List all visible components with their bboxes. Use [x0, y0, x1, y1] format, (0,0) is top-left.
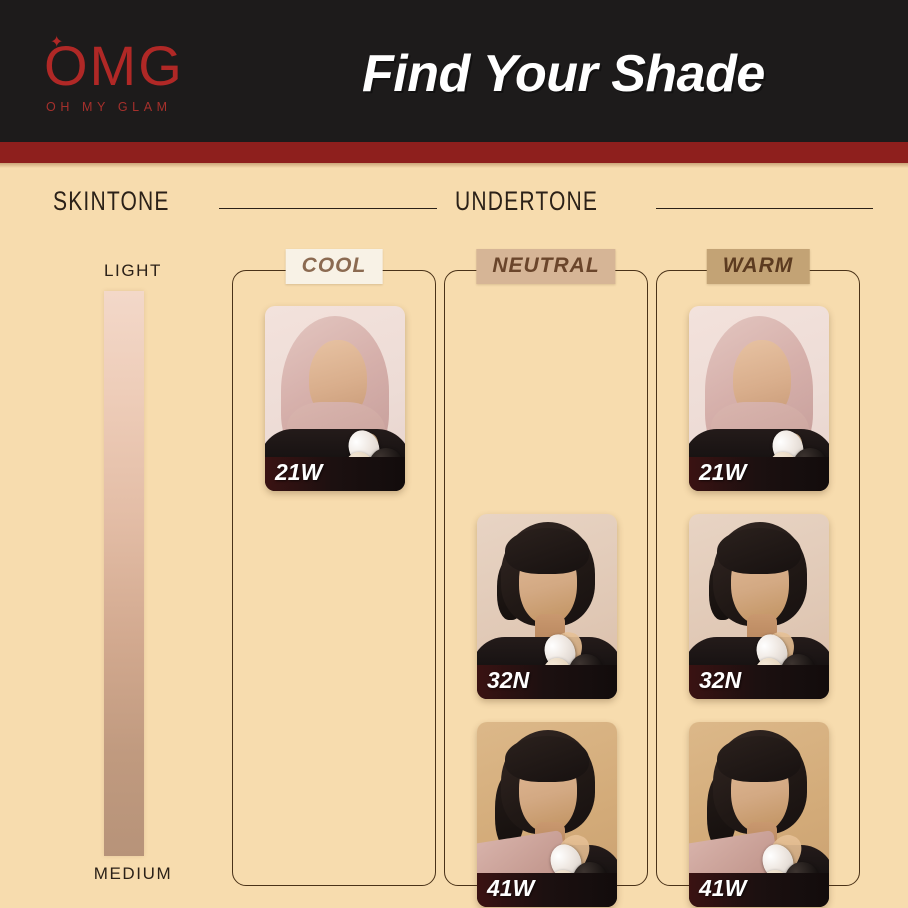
skintone-gradient-bar	[104, 291, 144, 856]
model-hairline	[505, 528, 589, 574]
logo-tagline: OH MY GLAM	[46, 100, 172, 114]
logo-wordmark: OMG	[44, 38, 184, 94]
page-title: Find Your Shade	[362, 44, 765, 104]
undertone-badge-cool: COOL	[286, 249, 383, 284]
shade-name: 41W	[699, 875, 746, 902]
shade-name: 32N	[487, 667, 529, 694]
find-your-shade-poster: ✦ OMG OH MY GLAM Find Your Shade SKINTON…	[0, 0, 908, 908]
header-bar: ✦ OMG OH MY GLAM Find Your Shade	[0, 0, 908, 142]
undertone-column-warm[interactable]: WARM 21W	[656, 270, 860, 886]
model-hairline	[505, 736, 589, 782]
shade-name: 21W	[699, 459, 746, 486]
skintone-light-label: LIGHT	[58, 261, 208, 281]
skintone-section-label: SKINTONE	[53, 186, 170, 217]
shade-name: 21W	[275, 459, 322, 486]
undertone-section-label: UNDERTONE	[455, 186, 598, 217]
shade-card-warm-32n[interactable]: 32N	[689, 514, 829, 699]
shade-name: 32N	[699, 667, 741, 694]
undertone-badge-neutral: NEUTRAL	[476, 249, 615, 284]
divider-line-left	[219, 208, 437, 209]
shade-card-warm-21w[interactable]: 21W	[689, 306, 829, 491]
shade-card-warm-41w[interactable]: 41W	[689, 722, 829, 907]
red-accent-stripe	[0, 142, 908, 163]
model-hairline	[717, 528, 801, 574]
shade-card-neutral-41w[interactable]: 41W	[477, 722, 617, 907]
skintone-scale: LIGHT MEDIUM	[58, 255, 208, 895]
divider-line-right	[656, 208, 873, 209]
undertone-column-neutral[interactable]: NEUTRAL 32N	[444, 270, 648, 886]
skintone-medium-label: MEDIUM	[58, 864, 208, 884]
shade-card-cool-21w[interactable]: 21W	[265, 306, 405, 491]
shade-name: 41W	[487, 875, 534, 902]
undertone-badge-warm: WARM	[707, 249, 810, 284]
shade-card-neutral-32n[interactable]: 32N	[477, 514, 617, 699]
undertone-column-cool[interactable]: COOL 21W	[232, 270, 436, 886]
section-label-row: SKINTONE UNDERTONE	[0, 186, 908, 228]
stripe-shadow	[0, 163, 908, 168]
model-hairline	[717, 736, 801, 782]
omg-logo[interactable]: ✦ OMG OH MY GLAM	[42, 38, 232, 120]
